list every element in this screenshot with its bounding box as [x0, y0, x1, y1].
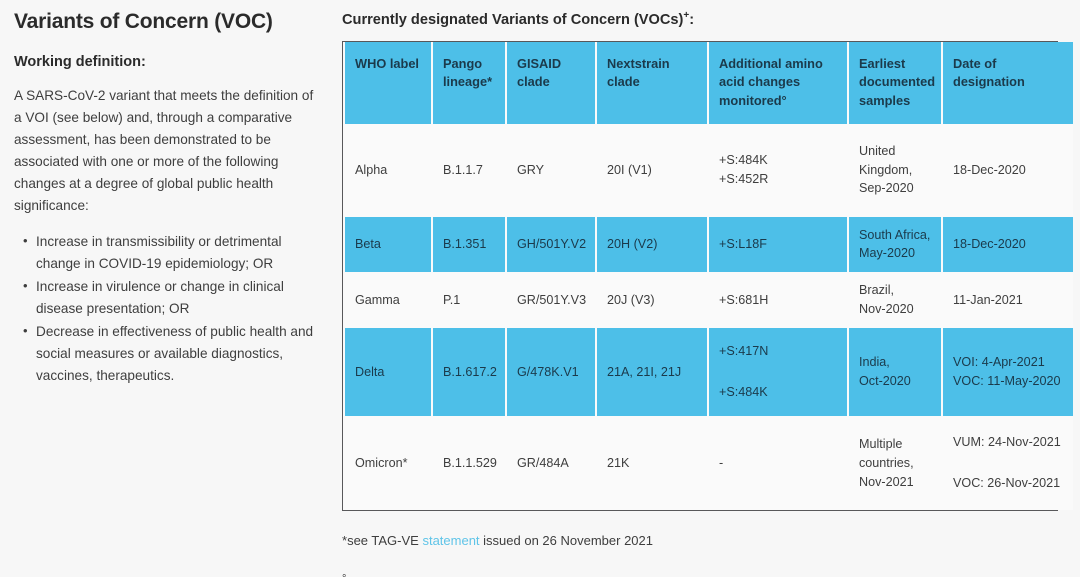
cell-nextstrain: 20H (V2)	[597, 217, 707, 273]
cell-who-label: Alpha	[345, 124, 431, 217]
list-item: Decrease in effectiveness of public heal…	[36, 321, 322, 387]
earliest-line: Nov-2020	[859, 300, 932, 319]
page-root: Variants of Concern (VOC) Working defini…	[0, 0, 1080, 577]
cell-gisaid: GR/501Y.V3	[507, 272, 595, 328]
cell-changes: +S:681H	[709, 272, 847, 328]
tag-ve-statement-link[interactable]: statement	[422, 533, 479, 548]
list-item: Increase in virulence or change in clini…	[36, 276, 322, 320]
earliest-line: India,	[859, 353, 932, 372]
designation-line: 18-Dec-2020	[953, 161, 1064, 180]
cell-gisaid: GR/484A	[507, 416, 595, 510]
voc-table-panel: Currently designated Variants of Concern…	[340, 0, 1080, 577]
cell-nextstrain: 20I (V1)	[597, 124, 707, 217]
earliest-line: Kingdom,	[859, 161, 932, 180]
table-row: Gamma P.1 GR/501Y.V3 20J (V3) +S:681H Br…	[345, 272, 1073, 328]
cell-who-label: Omicron*	[345, 416, 431, 510]
cell-designation: VUM: 24-Nov-2021 VOC: 26-Nov-2021	[943, 416, 1073, 510]
voc-table-frame: WHO label Pango lineage* GISAID clade Ne…	[342, 41, 1058, 511]
cell-pango: B.1.617.2	[433, 328, 505, 416]
designation-line: VOC: 11-May-2020	[953, 372, 1064, 391]
table-caption-text: Currently designated Variants of Concern…	[342, 12, 683, 28]
column-header-gisaid-clade: GISAID clade	[507, 42, 595, 124]
cell-pango: B.1.1.7	[433, 124, 505, 217]
earliest-line: Multiple	[859, 435, 932, 454]
change-entry: -	[719, 454, 838, 473]
cell-gisaid: GRY	[507, 124, 595, 217]
designation-line: 18-Dec-2020	[953, 235, 1064, 254]
table-body: Alpha B.1.1.7 GRY 20I (V1) +S:484K +S:45…	[345, 124, 1073, 511]
footnote-text-pre: see TAG-VE	[347, 533, 422, 548]
table-caption: Currently designated Variants of Concern…	[342, 10, 1060, 28]
page-title: Variants of Concern (VOC)	[14, 10, 322, 34]
list-item: Increase in transmissibility or detrimen…	[36, 231, 322, 275]
cell-who-label: Delta	[345, 328, 431, 416]
cell-gisaid: G/478K.V1	[507, 328, 595, 416]
change-entry: +S:417N	[719, 342, 838, 361]
cell-gisaid: GH/501Y.V2	[507, 217, 595, 273]
earliest-line: United	[859, 142, 932, 161]
cell-changes: +S:L18F	[709, 217, 847, 273]
table-caption-colon: :	[689, 12, 694, 28]
column-header-nextstrain-clade: Nextstrain clade	[597, 42, 707, 124]
earliest-line: Sep-2020	[859, 179, 932, 198]
working-definition-heading: Working definition:	[14, 54, 322, 70]
column-header-who-label: WHO label	[345, 42, 431, 124]
earliest-line: May-2020	[859, 244, 932, 263]
cell-earliest: South Africa, May-2020	[849, 217, 941, 273]
column-header-earliest-samples: Earliest documented samples	[849, 42, 941, 124]
cell-nextstrain: 21K	[597, 416, 707, 510]
table-row: Delta B.1.617.2 G/478K.V1 21A, 21I, 21J …	[345, 328, 1073, 416]
cell-earliest: Multiple countries, Nov-2021	[849, 416, 941, 510]
earliest-line: South Africa,	[859, 226, 932, 245]
cell-designation: VOI: 4-Apr-2021 VOC: 11-May-2020	[943, 328, 1073, 416]
table-row: Omicron* B.1.1.529 GR/484A 21K - Multipl…	[345, 416, 1073, 510]
table-row: Beta B.1.351 GH/501Y.V2 20H (V2) +S:L18F…	[345, 217, 1073, 273]
voc-criteria-list: Increase in transmissibility or detrimen…	[14, 231, 322, 387]
footnote-subset: ° only found in a subset of sequences	[342, 571, 1060, 577]
earliest-line: Nov-2021	[859, 473, 932, 492]
cell-pango: B.1.351	[433, 217, 505, 273]
designation-line: 11-Jan-2021	[953, 291, 1064, 310]
cell-pango: B.1.1.529	[433, 416, 505, 510]
column-header-date-of-designation: Date of designation	[943, 42, 1073, 124]
cell-changes: +S:484K +S:452R	[709, 124, 847, 217]
table-row: Alpha B.1.1.7 GRY 20I (V1) +S:484K +S:45…	[345, 124, 1073, 217]
footnote-text-post: issued on 26 November 2021	[480, 533, 653, 548]
cell-changes: +S:417N +S:484K	[709, 328, 847, 416]
change-entry: +S:484K	[719, 151, 838, 170]
cell-pango: P.1	[433, 272, 505, 328]
table-footnotes: *see TAG-VE statement issued on 26 Novem…	[342, 531, 1060, 577]
change-entry: +S:484K	[719, 383, 838, 402]
cell-designation: 18-Dec-2020	[943, 124, 1073, 217]
cell-who-label: Gamma	[345, 272, 431, 328]
column-header-amino-acid-changes: Additional amino acid changes monitored°	[709, 42, 847, 124]
cell-earliest: United Kingdom, Sep-2020	[849, 124, 941, 217]
cell-designation: 11-Jan-2021	[943, 272, 1073, 328]
change-entry: +S:452R	[719, 170, 838, 189]
cell-designation: 18-Dec-2020	[943, 217, 1073, 273]
earliest-line: countries,	[859, 454, 932, 473]
earliest-line: Brazil,	[859, 281, 932, 300]
voc-definition-panel: Variants of Concern (VOC) Working defini…	[0, 0, 340, 388]
change-entry: +S:681H	[719, 291, 838, 310]
designation-line: VUM: 24-Nov-2021	[953, 433, 1064, 452]
table-header: WHO label Pango lineage* GISAID clade Ne…	[345, 42, 1073, 124]
column-header-pango-lineage: Pango lineage*	[433, 42, 505, 124]
voc-table: WHO label Pango lineage* GISAID clade Ne…	[343, 42, 1075, 510]
earliest-line: Oct-2020	[859, 372, 932, 391]
working-definition-text: A SARS-CoV-2 variant that meets the defi…	[14, 85, 322, 217]
cell-earliest: India, Oct-2020	[849, 328, 941, 416]
cell-earliest: Brazil, Nov-2020	[849, 272, 941, 328]
designation-line: VOC: 26-Nov-2021	[953, 474, 1064, 493]
change-entry: +S:L18F	[719, 235, 838, 254]
cell-nextstrain: 20J (V3)	[597, 272, 707, 328]
designation-line: VOI: 4-Apr-2021	[953, 353, 1064, 372]
table-header-row: WHO label Pango lineage* GISAID clade Ne…	[345, 42, 1073, 124]
cell-changes: -	[709, 416, 847, 510]
cell-who-label: Beta	[345, 217, 431, 273]
footnote-statement: *see TAG-VE statement issued on 26 Novem…	[342, 531, 1060, 551]
cell-nextstrain: 21A, 21I, 21J	[597, 328, 707, 416]
